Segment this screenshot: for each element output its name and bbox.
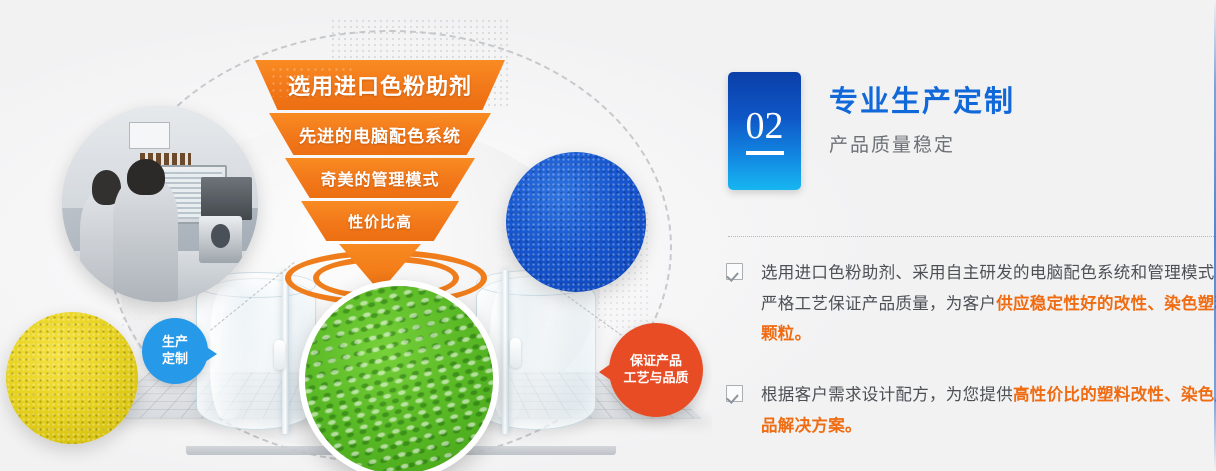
green-plastic-pellets [305,286,493,471]
green-pellets-circle [299,280,499,471]
lab-colorimeter [199,216,242,263]
funnel-step-2-label: 先进的电脑配色系统 [299,122,461,147]
process-funnel: 选用进口色粉助剂 先进的电脑配色系统 奇美的管理模式 性价比高 [255,60,505,265]
callout-quality: 保证产品 工艺与品质 [609,323,703,417]
lab-photo [62,106,258,302]
feature-bullet-1: 选用进口色粉助剂、采用自主研发的电脑配色系统和管理模式， 严格工艺保证产品质量，… [726,258,1216,350]
feature-bullet-2-text: 根据客户需求设计配方，为您提供高性价比的塑料改性、染色产 品解决方案。 [761,380,1216,441]
section-title: 专业生产定制 [829,84,1015,120]
feature-bullet-1-text: 选用进口色粉助剂、采用自主研发的电脑配色系统和管理模式， 严格工艺保证产品质量，… [761,258,1216,350]
yellow-pigment-circle [6,312,138,444]
feature-bullet-2: 根据客户需求设计配方，为您提供高性价比的塑料改性、染色产 品解决方案。 [726,380,1216,441]
blue-pigment-powder [506,152,646,292]
funnel-step-3-label: 奇美的管理模式 [320,166,439,190]
yellow-pigment-powder [6,312,138,444]
funnel-step-4: 性价比高 [301,201,459,241]
callout-production: 生产 定制 [142,318,208,384]
check-square-icon [726,385,743,402]
bullet-1-line-2-plain: 严格工艺保证产品质量，为客户 [761,295,996,313]
bullet-2-line-1-highlight: 高性价比的塑料改性、染色产 [1013,386,1216,404]
glass-handle [510,338,521,368]
lab-wall-chart [129,122,170,149]
funnel-step-2: 先进的电脑配色系统 [269,113,491,155]
content-panel: 02 专业生产定制 产品质量稳定 选用进口色粉助剂、采用自主研发的电脑配色系统和… [712,0,1216,471]
bullet-2-line-1: 根据客户需求设计配方，为您提供高性价比的塑料改性、染色产 [761,380,1216,411]
callout-tail [599,363,612,381]
bullet-1-line-1: 选用进口色粉助剂、采用自主研发的电脑配色系统和管理模式， [761,258,1216,289]
check-square-icon [726,263,743,280]
funnel-step-4-label: 性价比高 [348,211,412,232]
bullet-1-line-3: 颗粒。 [761,319,1216,350]
callout-tail [205,346,217,362]
callout-production-line1: 生产 [162,334,188,351]
funnel-step-1: 选用进口色粉助剂 [255,60,505,110]
lab-equipment-box [201,177,252,220]
bullet-2-line-2: 品解决方案。 [761,411,1216,442]
dotted-divider [728,236,1216,237]
glass-pane [502,270,509,434]
bullet-1-line-2-highlight: 供应稳定性好的改性、染色塑料 [996,295,1216,313]
callout-quality-line2: 工艺与品质 [623,370,688,387]
section-number-badge: 02 [728,72,801,190]
lab-worker-2 [113,180,178,302]
lab-photo-circle [62,106,258,302]
blue-pigment-circle [506,152,646,292]
product-illustration: 选用进口色粉助剂 先进的电脑配色系统 奇美的管理模式 性价比高 [0,0,712,471]
promo-banner: 选用进口色粉助剂 先进的电脑配色系统 奇美的管理模式 性价比高 [0,0,1216,471]
section-number: 02 [746,107,784,155]
powder-grain [6,312,138,444]
funnel-speckle [270,66,355,97]
bullet-2-line-1-plain: 根据客户需求设计配方，为您提供 [761,386,1013,404]
pellet-texture [299,280,499,471]
callout-quality-line1: 保证产品 [630,353,682,370]
funnel-step-3: 奇美的管理模式 [285,158,475,198]
glass-handle [274,340,285,370]
bullet-1-line-2: 严格工艺保证产品质量，为客户供应稳定性好的改性、染色塑料 [761,289,1216,320]
callout-production-line2: 定制 [162,351,188,368]
powder-grain [506,152,646,292]
section-subtitle: 产品质量稳定 [829,130,1015,157]
section-headings: 专业生产定制 产品质量稳定 [829,84,1015,157]
